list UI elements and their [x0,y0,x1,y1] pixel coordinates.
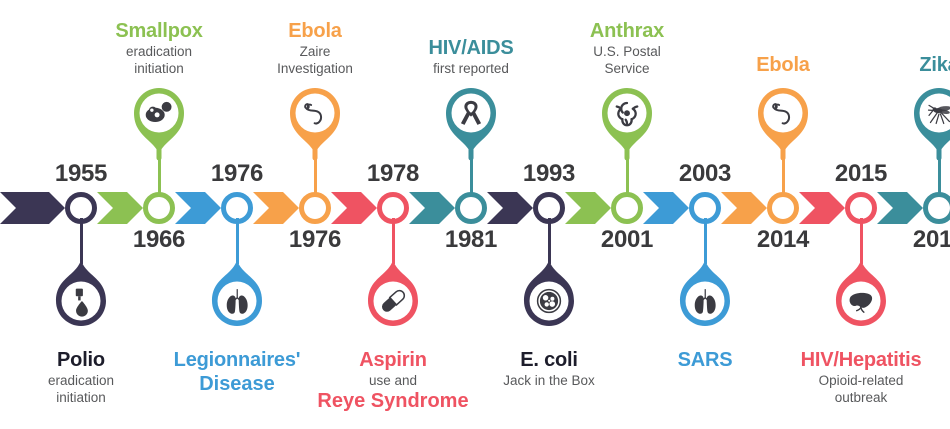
ebola-filament-icon [296,94,334,132]
timeline-segment-9 [643,192,689,224]
event-title-ebola-2014: Ebola [756,54,809,76]
timeline-segment-1 [0,192,65,224]
timeline-node-2016-12 [923,192,950,224]
event-pin-polio[interactable] [50,256,112,330]
event-subtitle-anthrax-2: Service [537,61,717,77]
lungs-icon [686,282,724,320]
event-pin-hiv-hepatitis[interactable] [830,256,892,330]
year-label-1976-4: 1976 [270,226,360,254]
year-label-1966-2: 1966 [114,226,204,254]
awareness-ribbon-icon [452,94,490,132]
timeline-node-2003-9 [689,192,721,224]
timeline-segment-10 [721,192,767,224]
year-label-2014-10: 2014 [738,226,828,254]
event-pin-zika[interactable] [908,82,950,156]
event-label-smallpox: Smallpoxeradicationinitiation [69,20,249,77]
event-title-ecoli: E. coli [520,349,578,371]
event-pin-aspirin-reye[interactable] [362,256,424,330]
event-label-hiv-hepatitis: HIV/HepatitisOpioid-relatedoutbreak [766,349,950,406]
timeline-segment-12 [877,192,923,224]
event-pin-smallpox[interactable] [128,82,190,156]
event-title-hiv-aids: HIV/AIDS [428,37,513,59]
event-subtitle-ecoli-1: Jack in the Box [454,373,644,389]
event-label-zika: Zika [849,54,950,77]
event-title-zika: Zika [919,54,950,76]
timeline-segment-6 [409,192,455,224]
year-label-2016-12: 2016 [894,226,950,254]
liver-icon [842,282,880,320]
biohazard-icon [608,94,646,132]
event-subtitle-smallpox-2: initiation [69,61,249,77]
event-title-smallpox: Smallpox [115,20,202,42]
timeline-node-1981-6 [455,192,487,224]
event-title-hiv-hepatitis: HIV/Hepatitis [801,349,922,371]
timeline-segment-7 [487,192,533,224]
event-label-anthrax: AnthraxU.S. PostalService [537,20,717,77]
year-label-2003-9: 2003 [660,160,750,188]
timeline-segment-11 [799,192,845,224]
timeline-node-1976-3 [221,192,253,224]
event-subtitle-smallpox-1: eradication [69,44,249,60]
year-label-1955-1: 1955 [36,160,126,188]
ebola-filament-icon [764,94,802,132]
event-subtitle-anthrax-1: U.S. Postal [537,44,717,60]
event-pin-ebola-2014[interactable] [752,82,814,156]
year-label-2015-11: 2015 [816,160,906,188]
timeline-node-2001-8 [611,192,643,224]
event-label-hiv-aids: HIV/AIDSfirst reported [381,37,561,77]
event-subtitle-hiv-aids-1: first reported [381,61,561,77]
timeline-node-1976-4 [299,192,331,224]
event-title-polio: Polio [57,349,105,371]
timeline-segment-3 [175,192,221,224]
timeline-node-1955-1 [65,192,97,224]
timeline-segment-5 [331,192,377,224]
timeline-infographic: Smallpoxeradicationinitiation EbolaZaire… [0,0,950,429]
year-label-1981-6: 1981 [426,226,516,254]
event-title2-aspirin-reye: Reye Syndrome [298,390,488,413]
year-label-1978-5: 1978 [348,160,438,188]
timeline-node-1978-5 [377,192,409,224]
year-label-2001-8: 2001 [582,226,672,254]
timeline-segment-2 [97,192,143,224]
event-title-anthrax: Anthrax [590,20,664,42]
event-pin-legionnaires[interactable] [206,256,268,330]
mosquito-icon [920,94,950,132]
virus-cells-icon [140,94,178,132]
event-pin-anthrax[interactable] [596,82,658,156]
year-label-1993-7: 1993 [504,160,594,188]
timeline-node-2014-10 [767,192,799,224]
event-subtitle-hiv-hepatitis-1: Opioid-related [766,373,950,389]
event-pin-ebola-zaire[interactable] [284,82,346,156]
timeline-node-1993-7 [533,192,565,224]
timeline-segment-8 [565,192,611,224]
pill-capsule-icon [374,282,412,320]
event-title-aspirin-reye: Aspirin [359,349,427,371]
event-title-ebola-zaire: Ebola [288,20,341,42]
timeline-segment-4 [253,192,299,224]
event-label-ebola-2014: Ebola [693,54,873,77]
vaccine-dropper-icon [62,282,100,320]
event-subtitle-ebola-zaire-2: Investigation [225,61,405,77]
petri-dish-icon [530,282,568,320]
event-pin-sars[interactable] [674,256,736,330]
event-label-ebola-zaire: EbolaZaireInvestigation [225,20,405,77]
event-subtitle-hiv-hepatitis-2: outbreak [766,390,950,406]
event-pin-hiv-aids[interactable] [440,82,502,156]
event-pin-ecoli[interactable] [518,256,580,330]
timeline-node-1966-2 [143,192,175,224]
year-label-1976-3: 1976 [192,160,282,188]
lungs-icon [218,282,256,320]
timeline-node-2015-11 [845,192,877,224]
event-title-legionnaires: Legionnaires' [174,349,301,371]
event-title-sars: SARS [678,349,733,371]
event-subtitle-ebola-zaire-1: Zaire [225,44,405,60]
